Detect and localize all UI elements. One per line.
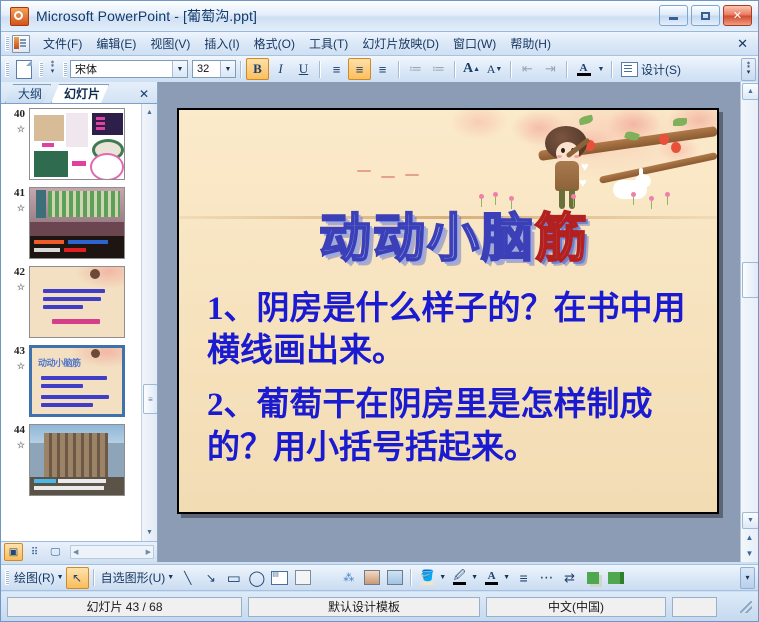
drawbar-grip[interactable] <box>5 570 9 585</box>
line-color-icon[interactable]: 🖉 <box>448 567 471 589</box>
align-center-button[interactable]: ≡ <box>348 58 371 80</box>
arrow-style-button[interactable]: ⇄ <box>558 567 581 589</box>
view-buttons-bar: ▣ ⠿ 🖵 ◀ ▶ <box>1 541 157 562</box>
3d-icon[interactable] <box>604 567 627 589</box>
chevron-down-icon[interactable]: ▼ <box>172 61 187 77</box>
list-item[interactable]: 43 ☆ 动动小脑筋 <box>1 345 141 417</box>
menu-item-tools[interactable]: 工具(T) <box>302 33 355 54</box>
slide-body-textbox[interactable]: 1、阴房是什么样子的？在书中用横线画出来。 2、葡萄干在阴房里是怎样制成的？用小… <box>207 288 693 481</box>
maximize-button[interactable] <box>691 5 720 26</box>
animation-star-icon: ☆ <box>3 202 25 215</box>
title-text-blue: 动动小脑 <box>319 210 535 268</box>
slide-canvas[interactable]: ♥ ♥ 动动小脑筋 1、阴房是什么样子的？在书中用横线画出来。 <box>177 108 719 514</box>
rectangle-tool-button[interactable]: ▭ <box>222 567 245 589</box>
toolbar-grip-1[interactable] <box>5 62 9 77</box>
menu-item-slideshow[interactable]: 幻灯片放映(D) <box>355 33 446 54</box>
list-item[interactable]: 41 ☆ <box>1 187 141 259</box>
dragonfly-icon <box>405 174 419 176</box>
title-bar: Microsoft PowerPoint - [葡萄沟.ppt] ✕ <box>1 1 758 32</box>
animation-star-icon: ☆ <box>3 123 25 136</box>
status-language[interactable]: 中文(中国) <box>486 597 666 617</box>
slide-vertical-scrollbar[interactable]: ▲ ▼ ▲ ▼ <box>740 82 758 562</box>
horizontal-scrollbar[interactable]: ◀ ▶ <box>70 545 154 559</box>
shadow-icon[interactable] <box>581 567 604 589</box>
numbered-list-button[interactable]: ≔ <box>404 58 427 80</box>
chevron-down-icon[interactable]: ▼ <box>471 574 478 581</box>
cherry-icon <box>659 134 669 145</box>
slide-editing-stage: ♥ ♥ 动动小脑筋 1、阴房是什么样子的？在书中用横线画出来。 <box>158 82 758 562</box>
slide-show-button[interactable]: 🖵 <box>46 543 65 561</box>
clip-art-icon[interactable] <box>360 567 383 589</box>
slide-sorter-button[interactable]: ⠿ <box>25 543 44 561</box>
align-right-button[interactable]: ≡ <box>371 58 394 80</box>
font-name-combo[interactable]: 宋体 ▼ <box>70 60 188 78</box>
slide-title[interactable]: 动动小脑筋 <box>219 196 689 271</box>
scroll-up-icon[interactable]: ▲ <box>143 106 156 119</box>
slide-number: 43 ☆ <box>3 345 29 373</box>
powerpoint-window: Microsoft PowerPoint - [葡萄沟.ppt] ✕ 文件(F)… <box>0 0 759 622</box>
scrollbar-thumb[interactable]: ≡ <box>143 384 157 414</box>
work-area: 大纲 幻灯片 ✕ 40 ☆ <box>1 82 758 562</box>
font-color-icon[interactable]: A <box>480 567 503 589</box>
align-left-button[interactable]: ≡ <box>325 58 348 80</box>
arrow-tool-button[interactable]: ↘ <box>199 567 222 589</box>
menu-bar: 文件(F) 编辑(E) 视图(V) 插入(I) 格式(O) 工具(T) 幻灯片放… <box>1 32 758 56</box>
autoshapes-menu-button[interactable]: 自选图形(U) <box>99 569 168 586</box>
font-size-combo[interactable]: 32 ▼ <box>192 60 236 78</box>
slide-thumbnail[interactable] <box>29 266 125 338</box>
drawbar-overflow-button[interactable]: ▾ <box>740 567 755 589</box>
thumbnail-scrollbar[interactable]: ▲ ≡ ▼ <box>141 104 157 541</box>
menu-item-window[interactable]: 窗口(W) <box>446 33 503 54</box>
heart-icon: ♥ <box>581 160 589 173</box>
toolbar-separator <box>319 61 321 78</box>
design-label: 设计(S) <box>641 61 681 78</box>
font-name-value: 宋体 <box>75 61 172 77</box>
scroll-down-icon[interactable]: ▼ <box>742 512 758 529</box>
powerpoint-icon <box>10 7 29 26</box>
status-extra <box>672 597 717 617</box>
decrease-indent-button[interactable]: ⇤ <box>516 58 539 80</box>
animation-star-icon: ☆ <box>3 281 25 294</box>
menu-item-format[interactable]: 格式(O) <box>247 33 302 54</box>
list-item[interactable]: 44 ☆ <box>1 424 141 496</box>
leaf-icon <box>673 118 687 126</box>
scroll-down-icon[interactable]: ▼ <box>143 526 156 539</box>
slide-number: 44 ☆ <box>3 424 29 452</box>
chevron-down-icon[interactable]: ▼ <box>57 574 64 581</box>
toolbar-overflow-button[interactable]: ⁑▾ <box>741 58 756 81</box>
slide-thumbnail[interactable] <box>29 108 125 180</box>
slide-number: 41 ☆ <box>3 187 29 215</box>
bulleted-list-button[interactable]: ≔ <box>427 58 450 80</box>
toolbar-options-button-1[interactable]: ⁑▾ <box>46 58 59 80</box>
scrollbar-thumb[interactable] <box>742 262 758 298</box>
thumbnail-title: 动动小脑筋 <box>38 356 81 369</box>
status-design-template[interactable]: 默认设计模板 <box>248 597 480 617</box>
toolbar-separator <box>510 61 512 78</box>
status-bar: 幻灯片 43 / 68 默认设计模板 中文(中国) <box>1 592 758 621</box>
new-document-button[interactable] <box>12 58 35 80</box>
window-title: Microsoft PowerPoint - [葡萄沟.ppt] <box>36 6 257 26</box>
tab-outline[interactable]: 大纲 <box>5 84 51 103</box>
chevron-down-icon[interactable]: ▼ <box>220 61 235 77</box>
toolbar-grip-2[interactable] <box>39 62 43 77</box>
scroll-left-icon[interactable]: ◀ <box>73 548 78 556</box>
menu-item-insert[interactable]: 插入(I) <box>197 33 246 54</box>
increase-font-size-button[interactable]: A▲ <box>460 58 483 80</box>
bold-button[interactable]: B <box>246 58 269 80</box>
body-paragraph-2: 2、葡萄干在阴房里是怎样制成的？用小括号括起来。 <box>207 384 693 468</box>
menu-item-file[interactable]: 文件(F) <box>36 33 89 54</box>
status-slide-counter: 幻灯片 43 / 68 <box>7 597 242 617</box>
close-document-button[interactable]: ✕ <box>737 36 748 52</box>
italic-button[interactable]: I <box>269 58 292 80</box>
scroll-up-icon[interactable]: ▲ <box>742 83 758 100</box>
normal-view-button[interactable]: ▣ <box>4 543 23 561</box>
toolbar-separator <box>398 61 400 78</box>
menu-item-edit[interactable]: 编辑(E) <box>89 33 143 54</box>
draw-menu-button[interactable]: 绘图(R) <box>12 569 57 586</box>
minimize-button[interactable] <box>659 5 688 26</box>
menu-item-help[interactable]: 帮助(H) <box>503 33 558 54</box>
underline-button[interactable]: U <box>292 58 315 80</box>
chevron-down-icon[interactable]: ▼ <box>439 574 446 581</box>
toolbar-separator <box>611 61 613 78</box>
slides-outline-pane: 大纲 幻灯片 ✕ 40 ☆ <box>1 82 158 562</box>
chevron-down-icon[interactable]: ▼ <box>503 574 510 581</box>
slide-number: 42 ☆ <box>3 266 29 294</box>
toolbar-separator <box>93 569 95 586</box>
fill-color-icon[interactable]: 🪣 <box>416 567 439 589</box>
scroll-right-icon[interactable]: ▶ <box>146 548 151 556</box>
line-style-button[interactable]: ≡ <box>512 567 535 589</box>
font-color-dropdown[interactable]: ▼ <box>595 58 607 80</box>
close-button[interactable]: ✕ <box>723 5 752 26</box>
cherry-icon <box>671 142 681 153</box>
toolbar-separator <box>566 61 568 78</box>
tab-slides[interactable]: 幻灯片 <box>51 84 109 103</box>
toolbar-separator <box>240 61 242 78</box>
pane-tabs: 大纲 幻灯片 ✕ <box>1 82 157 104</box>
window-controls: ✕ <box>659 5 752 26</box>
font-color-button[interactable]: A <box>572 58 595 80</box>
slide-thumbnail-list[interactable]: 40 ☆ <box>1 104 157 541</box>
close-pane-button[interactable]: ✕ <box>139 87 149 101</box>
menu-grip[interactable] <box>5 36 9 51</box>
animation-star-icon: ☆ <box>3 439 25 452</box>
slide-thumbnail[interactable] <box>29 187 125 259</box>
previous-next-slide-buttons[interactable]: ▲ ▼ <box>742 530 757 561</box>
chevron-down-icon[interactable]: ▼ <box>167 574 174 581</box>
menu-item-view[interactable]: 视图(V) <box>143 33 197 54</box>
oval-tool-button[interactable]: ◯ <box>245 567 268 589</box>
dragonfly-icon <box>357 170 371 172</box>
picture-icon[interactable] <box>383 567 406 589</box>
diagram-icon[interactable]: ⁂ <box>337 567 360 589</box>
design-button[interactable]: 设计(S) <box>617 61 685 78</box>
next-slide-icon[interactable]: ▼ <box>746 550 754 557</box>
body-paragraph-1: 1、阴房是什么样子的？在书中用横线画出来。 <box>207 288 693 372</box>
heart-icon: ♥ <box>579 176 587 189</box>
list-item[interactable]: 40 ☆ <box>1 108 141 180</box>
title-text-red: 筋 <box>535 210 589 268</box>
drawing-toolbar: 绘图(R) ▼ ↖ 自选图形(U) ▼ ╲ ↘ ▭ ◯ ▤ ⁂ 🪣 ▼ 🖉 ▼ <box>1 564 758 591</box>
decrease-font-size-button[interactable]: A▼ <box>483 58 506 80</box>
slide-number: 40 ☆ <box>3 108 29 136</box>
vertical-text-box-icon[interactable] <box>291 567 314 589</box>
slide-thumbnail-current[interactable]: 动动小脑筋 <box>29 345 125 417</box>
wordart-icon[interactable] <box>314 567 337 589</box>
toolbar-grip-3[interactable] <box>63 62 67 77</box>
increase-indent-button[interactable]: ⇥ <box>539 58 562 80</box>
document-icon <box>12 35 30 53</box>
formatting-toolbar: ⁑▾ 宋体 ▼ 32 ▼ B I U ≡ ≡ ≡ ≔ ≔ A▲ A▼ ⇤ ⇥ A <box>1 56 758 83</box>
text-box-icon[interactable]: ▤ <box>268 567 291 589</box>
animation-star-icon: ☆ <box>3 360 25 373</box>
resize-grip[interactable] <box>740 601 752 613</box>
toolbar-separator <box>410 569 412 586</box>
dragonfly-icon <box>381 176 395 178</box>
design-icon <box>621 62 638 77</box>
slide-thumbnail[interactable] <box>29 424 125 496</box>
dash-style-button[interactable]: ⋯ <box>535 567 558 589</box>
line-tool-button[interactable]: ╲ <box>176 567 199 589</box>
font-size-value: 32 <box>197 63 220 75</box>
toolbar-separator <box>454 61 456 78</box>
previous-slide-icon[interactable]: ▲ <box>746 534 754 541</box>
list-item[interactable]: 42 ☆ <box>1 266 141 338</box>
select-objects-button[interactable]: ↖ <box>66 567 89 589</box>
